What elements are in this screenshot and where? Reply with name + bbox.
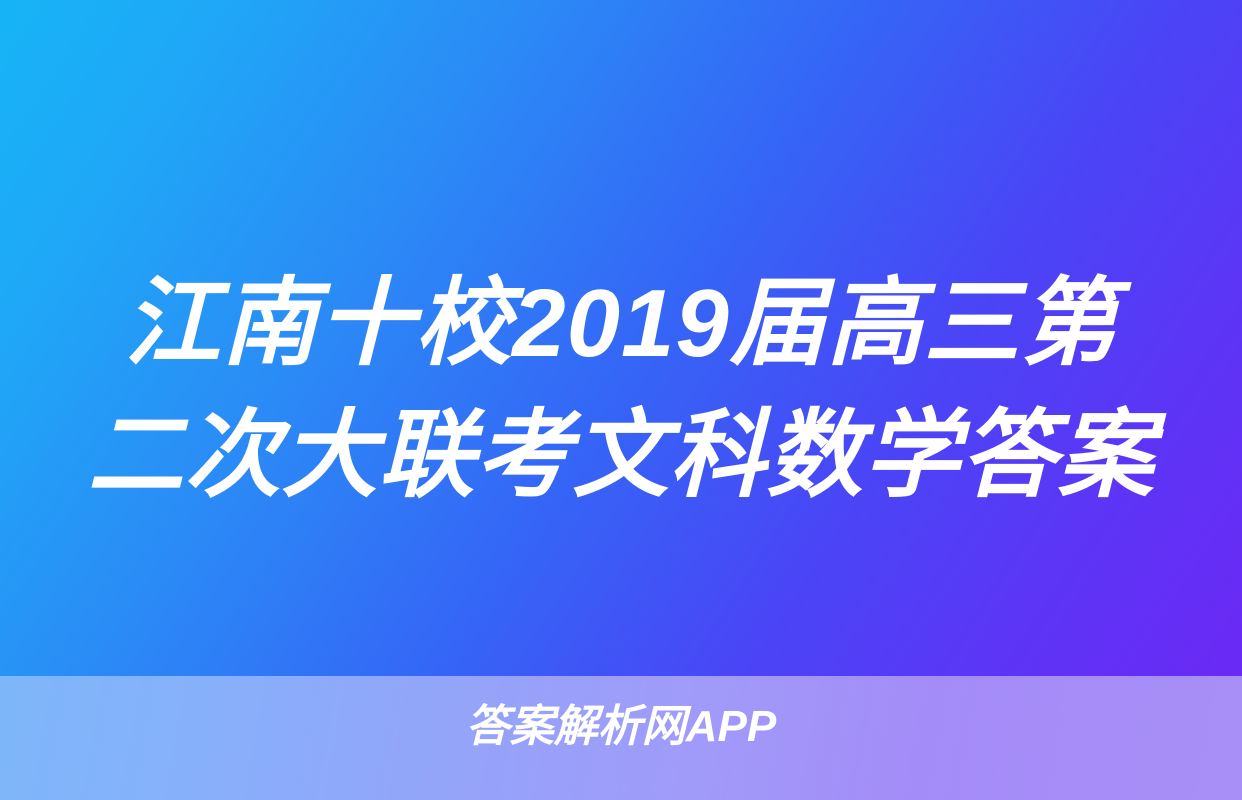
title-line-1: 江南十校2019届高三第 (0, 258, 1242, 390)
poster-canvas: 江南十校2019届高三第 二次大联考文科数学答案 答案解析网APP (0, 0, 1242, 800)
title-line-2: 二次大联考文科数学答案 (0, 390, 1242, 522)
footer-watermark: 答案解析网APP (0, 700, 1242, 754)
footer-watermark-label: 答案解析网APP (466, 700, 776, 754)
page-title: 江南十校2019届高三第 二次大联考文科数学答案 (0, 258, 1242, 522)
